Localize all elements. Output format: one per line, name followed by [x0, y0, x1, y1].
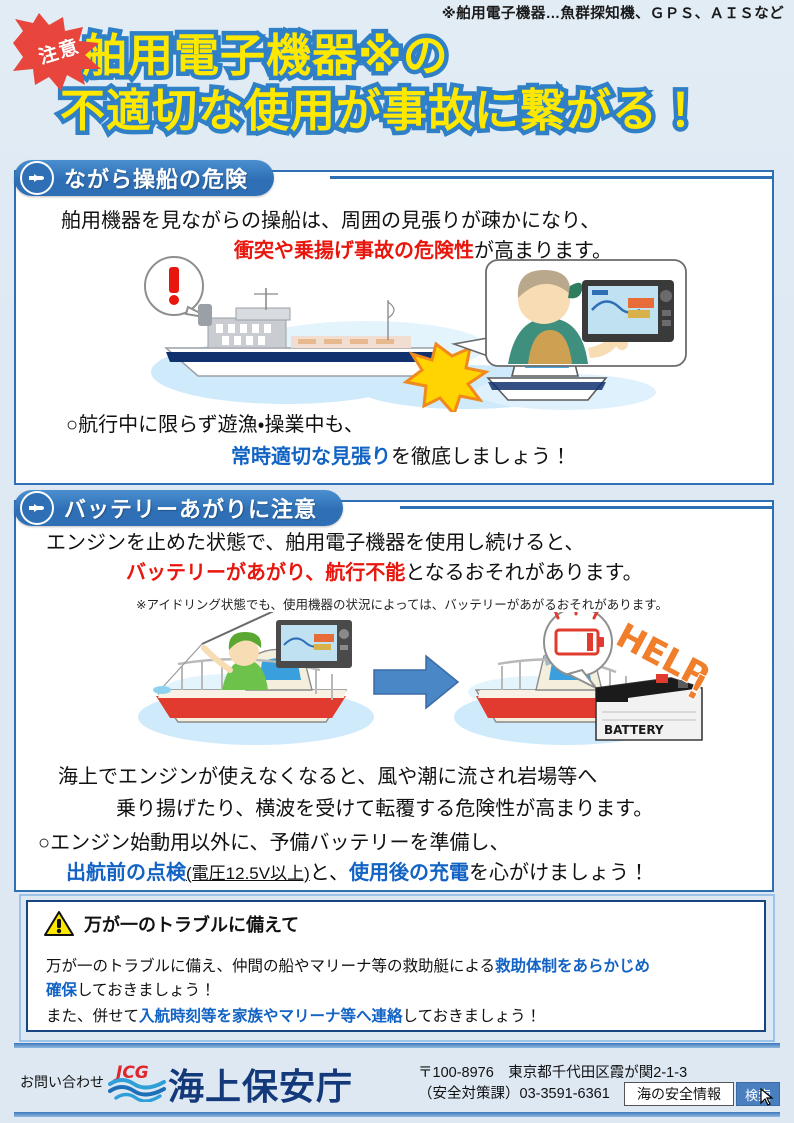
pointing-hand-icon — [20, 161, 54, 195]
caution-starburst-badge: 注意 — [5, 13, 107, 93]
warning-box: 万が一のトラブルに備えて 万が一のトラブルに備え、仲間の船やマリーナ等の救助艇に… — [26, 900, 766, 1032]
section2-note: ※アイドリング状態でも、使用機器の状況によっては、バッテリーがあがるおそれがあり… — [136, 594, 668, 613]
warning-box-header: 万が一のトラブルに備えて — [44, 910, 299, 937]
battery-scene-svg: BATTERY HELP ! — [126, 612, 726, 757]
jcg-logo-svg: JCG — [108, 1058, 168, 1102]
warning-line1-plain: 万が一のトラブルに備え、仲間の船やマリーナ等の救助艇による — [46, 958, 495, 975]
warning-line2-plain: しておきましょう！ — [77, 982, 216, 999]
pointing-hand-glyph — [28, 172, 46, 184]
section1-line3: ○航行中に限らず遊漁・操業中も、 — [66, 412, 364, 439]
contact-label: お問い合わせ — [20, 1072, 104, 1092]
warning-line2-emphasis: 確保 — [46, 982, 77, 999]
warning-line1-emphasis: 救助体制をあらかじめ — [495, 958, 650, 975]
mouse-cursor-icon — [760, 1088, 774, 1106]
section1-line4: 常時適切な見張りを徹底しましょう！ — [231, 444, 571, 471]
section2-illustration: BATTERY HELP ! — [126, 612, 726, 762]
section1-line1: 舶用機器を見ながらの操船は、周囲の見張りが疎かになり、 — [61, 208, 600, 235]
console-inset — [454, 260, 686, 366]
footer-rule-bottom — [14, 1112, 780, 1117]
section2-rule — [400, 506, 774, 509]
search-input[interactable]: 海の安全情報 — [624, 1082, 734, 1106]
exclamation-mark — [169, 267, 179, 293]
warning-box-line1: 万が一のトラブルに備え、仲間の船やマリーナ等の救助艇による救助体制をあらかじめ — [46, 954, 650, 976]
section2-header: バッテリーあがりに注意 — [14, 490, 343, 526]
warning-box-heading: 万が一のトラブルに備えて — [84, 911, 299, 937]
section2-header-label: バッテリーあがりに注意 — [64, 492, 317, 524]
warning-line3-plain2: しておきましょう！ — [403, 1008, 542, 1025]
right-arrow-icon — [374, 656, 458, 708]
section2-line6-rest: を心がけましょう！ — [469, 862, 649, 884]
section2-line1: エンジンを止めた状態で、舶用電子機器を使用し続けると、 — [46, 530, 584, 557]
section2-line2: バッテリーがあがり、航行不能となるおそれがあります。 — [126, 560, 643, 587]
section2-body: エンジンを止めた状態で、舶用電子機器を使用し続けると、 バッテリーがあがり、航行… — [14, 500, 774, 892]
footer: お問い合わせ JCG 海上保安庁 〒100-8976 東京都千代田区霞が関2-1… — [0, 1050, 794, 1112]
agency-name: 海上保安庁 — [168, 1058, 353, 1110]
top-note: ※舶用電子機器…魚群探知機、ＧＰＳ、ＡＩＳなど — [0, 2, 784, 23]
poster-page: ※舶用電子機器…魚群探知機、ＧＰＳ、ＡＩＳなど 注意 舶用電子機器※の 不適切な… — [0, 0, 794, 1123]
section1-header-label: ながら操船の危険 — [64, 162, 248, 194]
section2-line6-blue2: 使用後の充電 — [349, 862, 469, 884]
warning-line3-emphasis: 入航時刻等を家族やマリーナ等へ連絡 — [139, 1008, 403, 1025]
warning-box-line2: 確保しておきましょう！ — [46, 978, 216, 1000]
section2-line2-rest: となるおそれがあります。 — [405, 562, 642, 584]
section2-line6-blue1: 出航前の点検 — [66, 862, 186, 884]
collision-scene-svg — [136, 252, 716, 412]
section1-line4-rest: を徹底しましょう！ — [391, 446, 571, 468]
section2-line6: 出航前の点検(電圧12.5V以上)と、使用後の充電を心がけましょう！ — [66, 860, 649, 887]
section1-header: ながら操船の危険 — [14, 160, 274, 196]
warning-box-line3: また、併せて入航時刻等を家族やマリーナ等へ連絡しておきましょう！ — [46, 1004, 541, 1026]
jcg-logo: JCG — [108, 1058, 168, 1102]
title-line-2: 不適切な使用が事故に繋がる！ — [60, 83, 780, 138]
section2-line4: 乗り揚げたり、横波を受けて転覆する危険性が高まります。 — [116, 796, 653, 823]
pointing-hand-icon — [20, 491, 54, 525]
section2-line6-paren: (電圧12.5V以上) — [186, 864, 310, 883]
section2-line3: 海上でエンジンが使えなくなると、風や潮に流され岩場等へ — [58, 764, 597, 791]
section1-illustration — [136, 252, 716, 417]
section1-rule — [330, 176, 774, 179]
section2-line2-emphasis: バッテリーがあがり、航行不能 — [126, 562, 405, 584]
footer-rule-top — [14, 1043, 780, 1048]
section1-line4-emphasis: 常時適切な見張り — [231, 446, 391, 468]
title-line-1: 舶用電子機器※の — [82, 28, 780, 83]
section2-line5: ○エンジン始動用以外に、予備バッテリーを準備し、 — [38, 830, 509, 857]
pointing-hand-glyph — [28, 502, 46, 514]
warning-triangle-icon — [44, 910, 74, 937]
warning-line3-plain1: また、併せて — [46, 1008, 139, 1025]
main-title: 舶用電子機器※の 不適切な使用が事故に繋がる！ — [60, 28, 780, 148]
section1-body: 舶用機器を見ながらの操船は、周囲の見張りが疎かになり、 衝突や乗揚げ事故の危険性… — [14, 170, 774, 485]
battery-label: BATTERY — [604, 723, 664, 737]
address-line-1: 〒100-8976 東京都千代田区霞が関2-1-3 — [418, 1061, 687, 1082]
section2-line6-mid: と、 — [310, 862, 349, 884]
address-line-2: （安全対策課）03-3591-6361 — [418, 1082, 610, 1103]
